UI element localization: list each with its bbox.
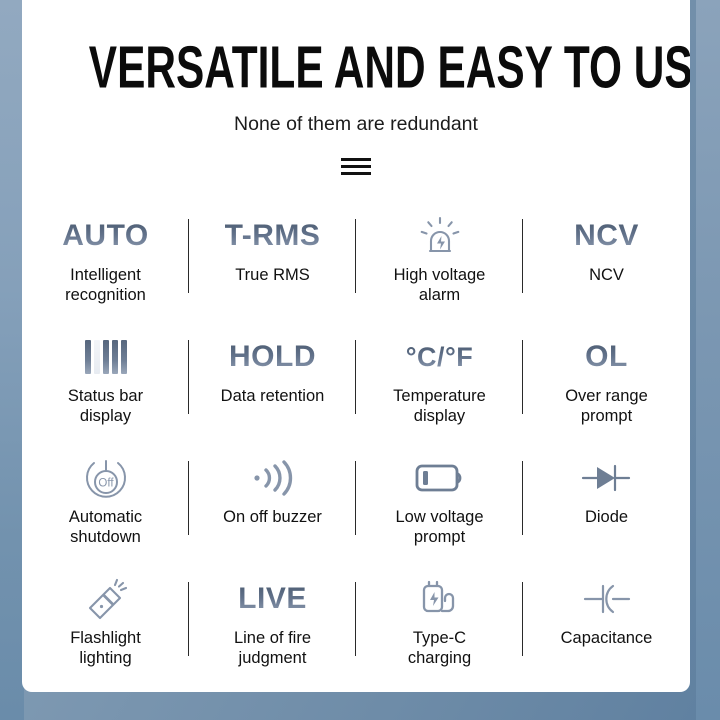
feature-item-true-rms: T-RMS True RMS bbox=[189, 205, 356, 326]
ncv-icon-text: NCV bbox=[574, 221, 639, 251]
feature-item-over-range: OL Over range prompt bbox=[523, 326, 690, 447]
feature-item-temperature: °C/°F Temperature display bbox=[356, 326, 523, 447]
live-wire-icon: LIVE bbox=[238, 574, 307, 624]
feature-label: Automatic shutdown bbox=[69, 507, 142, 547]
feature-item-hold: HOLD Data retention bbox=[189, 326, 356, 447]
status-bar-segment bbox=[85, 340, 91, 374]
feature-item-diode: Diode bbox=[523, 447, 690, 568]
feature-label: Flashlight lighting bbox=[70, 628, 141, 668]
feature-label: Intelligent recognition bbox=[65, 265, 146, 305]
feature-item-capacitance: Capacitance bbox=[523, 568, 690, 689]
auto-icon: AUTO bbox=[62, 211, 148, 261]
feature-card: VERSATILE AND EASY TO USE None of them a… bbox=[22, 0, 690, 692]
live-icon-text: LIVE bbox=[238, 584, 307, 614]
feature-item-high-voltage-alarm: High voltage alarm bbox=[356, 205, 523, 326]
overload-icon: OL bbox=[585, 332, 628, 382]
page-title: VERSATILE AND EASY TO USE bbox=[89, 0, 623, 97]
feature-label: Temperature display bbox=[393, 386, 486, 426]
feature-item-type-c: Type-C charging bbox=[356, 568, 523, 689]
feature-label: Status bar display bbox=[68, 386, 143, 426]
buzzer-sound-icon bbox=[248, 453, 298, 503]
flashlight-icon bbox=[82, 574, 130, 624]
feature-label: Low voltage prompt bbox=[395, 507, 483, 547]
low-battery-icon bbox=[413, 453, 467, 503]
hold-icon-text: HOLD bbox=[229, 342, 316, 372]
overload-icon-text: OL bbox=[585, 342, 628, 372]
status-bar-segment bbox=[112, 340, 118, 374]
hamburger-bar bbox=[341, 158, 371, 161]
feature-item-auto-shutdown: Off Automatic shutdown bbox=[22, 447, 189, 568]
siren-alarm-icon bbox=[417, 211, 463, 261]
feature-label: True RMS bbox=[235, 265, 310, 285]
diode-icon bbox=[579, 453, 635, 503]
auto-icon-text: AUTO bbox=[62, 221, 148, 251]
ncv-icon: NCV bbox=[574, 211, 639, 261]
feature-label: Over range prompt bbox=[565, 386, 648, 426]
feature-item-flashlight: Flashlight lighting bbox=[22, 568, 189, 689]
true-rms-icon: T-RMS bbox=[225, 211, 321, 261]
type-c-charging-icon bbox=[416, 574, 464, 624]
feature-label: NCV bbox=[589, 265, 624, 285]
right-gradient-rail bbox=[696, 0, 720, 720]
left-gradient-rail bbox=[0, 0, 24, 720]
capacitor-icon bbox=[580, 574, 634, 624]
status-bar-segment bbox=[103, 340, 109, 374]
feature-item-auto: AUTO Intelligent recognition bbox=[22, 205, 189, 326]
feature-grid: AUTO Intelligent recognition T-RMS True … bbox=[22, 205, 690, 689]
hamburger-bar bbox=[341, 165, 371, 168]
feature-label: Capacitance bbox=[561, 628, 653, 648]
status-bar-segment bbox=[121, 340, 127, 374]
feature-label: High voltage alarm bbox=[394, 265, 486, 305]
feature-label: On off buzzer bbox=[223, 507, 322, 527]
temperature-unit-icon: °C/°F bbox=[406, 332, 474, 382]
hold-icon: HOLD bbox=[229, 332, 316, 382]
status-bar-segment-empty bbox=[94, 340, 100, 374]
feature-label: Line of fire judgment bbox=[234, 628, 311, 668]
feature-label: Type-C charging bbox=[408, 628, 471, 668]
feature-label: Data retention bbox=[221, 386, 325, 406]
feature-item-low-voltage: Low voltage prompt bbox=[356, 447, 523, 568]
hamburger-bar bbox=[341, 172, 371, 175]
feature-item-buzzer: On off buzzer bbox=[189, 447, 356, 568]
status-bars-icon bbox=[85, 332, 127, 382]
hamburger-icon bbox=[341, 158, 371, 175]
feature-label: Diode bbox=[585, 507, 628, 527]
feature-item-live: LIVE Line of fire judgment bbox=[189, 568, 356, 689]
power-off-icon-text: Off bbox=[98, 478, 114, 490]
true-rms-icon-text: T-RMS bbox=[225, 221, 321, 251]
temperature-unit-icon-text: °C/°F bbox=[406, 344, 474, 371]
feature-item-ncv: NCV NCV bbox=[523, 205, 690, 326]
power-off-icon: Off bbox=[82, 453, 130, 503]
feature-item-status-bar: Status bar display bbox=[22, 326, 189, 447]
